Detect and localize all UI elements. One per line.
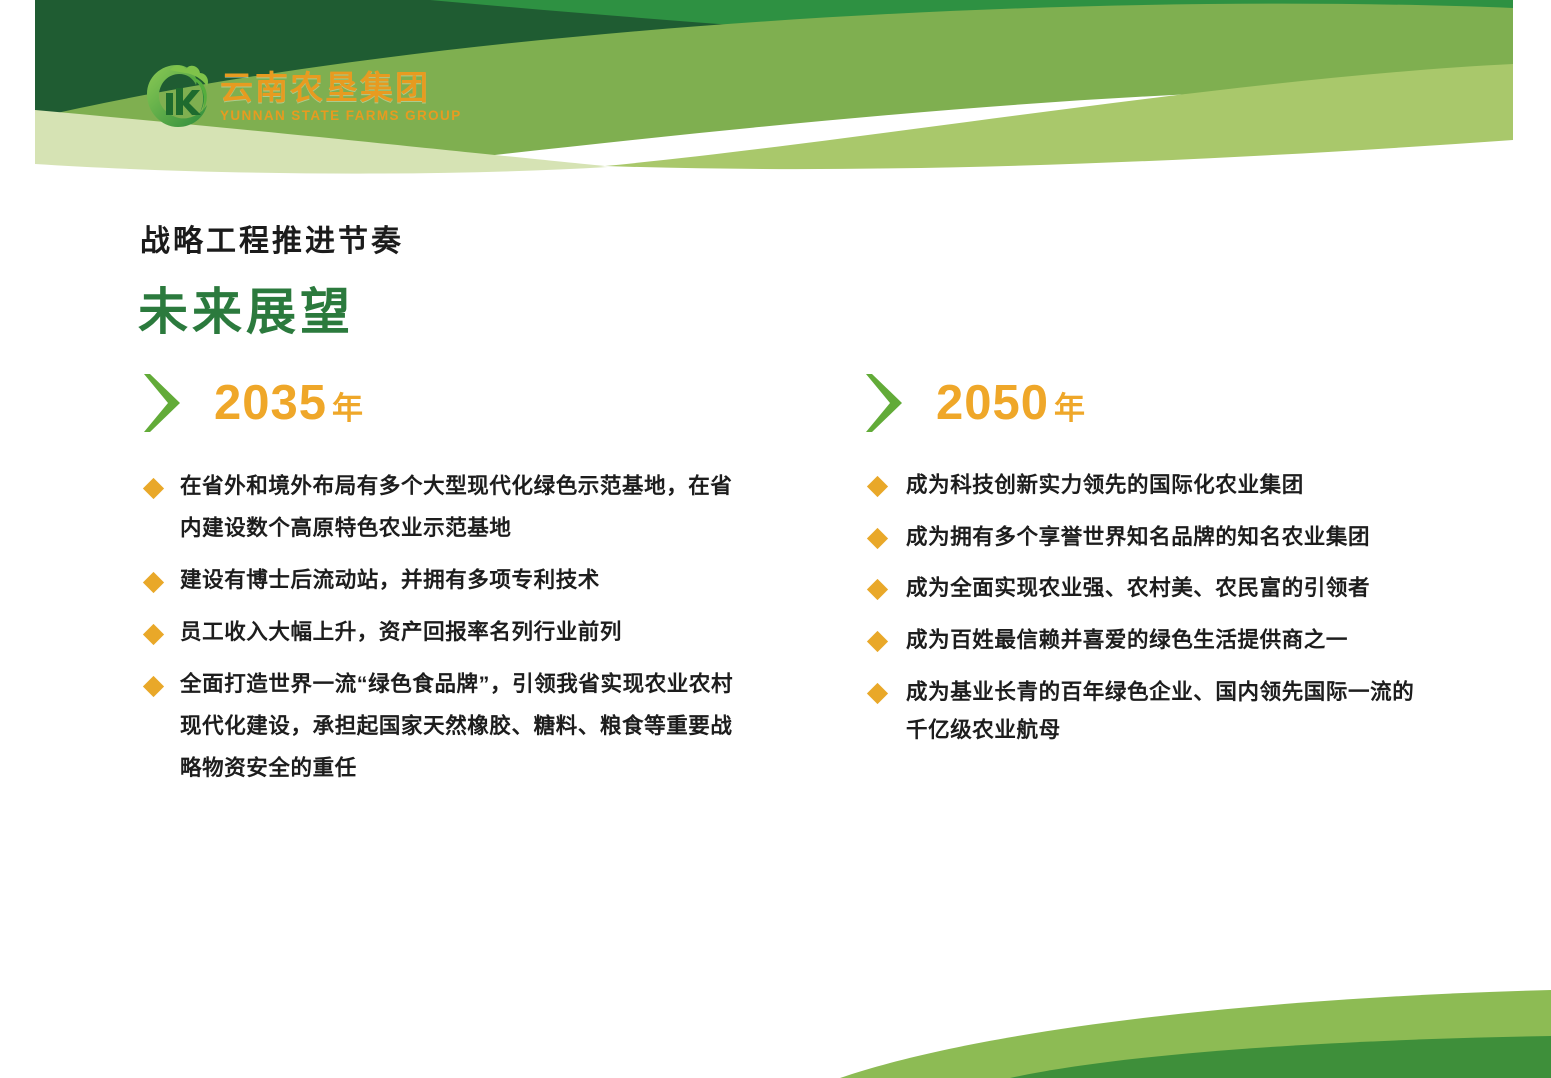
column-2050: 2050年 成为科技创新实力领先的国际化农业集团 成为拥有多个享誉世界知名品牌的…	[862, 368, 1422, 763]
list-item: 员工收入大幅上升，资产回报率名列行业前列	[140, 612, 740, 654]
diamond-bullet-icon	[867, 579, 888, 600]
brand-logo-text: 云南农垦集团 YUNNAN STATE FARMS GROUP	[220, 71, 462, 123]
diamond-bullet-icon	[867, 631, 888, 652]
brand-logo: 云南农垦集团 YUNNAN STATE FARMS GROUP	[140, 56, 462, 138]
bullet-list-2035: 在省外和境外布局有多个大型现代化绿色示范基地，在省内建设数个高原特色农业示范基地…	[140, 466, 740, 789]
banner-shape-light-green	[605, 64, 1513, 169]
list-item: 成为全面实现农业强、农村美、农民富的引领者	[862, 569, 1422, 608]
list-item: 在省外和境外布局有多个大型现代化绿色示范基地，在省内建设数个高原特色农业示范基地	[140, 466, 740, 550]
year-suffix: 年	[332, 391, 363, 426]
chevron-right-icon	[140, 372, 186, 434]
brand-name-cn: 云南农垦集团	[220, 71, 462, 104]
year-number: 2035	[214, 376, 327, 430]
year-suffix: 年	[1054, 391, 1085, 426]
banner-bottom-shape-light-green	[840, 990, 1551, 1078]
list-item: 成为科技创新实力领先的国际化农业集团	[862, 466, 1422, 505]
diamond-bullet-icon	[867, 683, 888, 704]
list-item: 成为拥有多个享誉世界知名品牌的知名农业集团	[862, 518, 1422, 557]
diamond-bullet-icon	[143, 572, 164, 593]
slide-canvas: 云南农垦集团 YUNNAN STATE FARMS GROUP 战略工程推进节奏…	[0, 0, 1551, 1078]
banner-bottom-shape-green	[1010, 1036, 1551, 1078]
list-item-text: 成为科技创新实力领先的国际化农业集团	[906, 473, 1304, 497]
diamond-bullet-icon	[867, 528, 888, 549]
yunnan-state-farms-leaf-logo-icon	[140, 60, 214, 134]
chevron-right-icon	[862, 372, 908, 434]
banner-bottom-waves-svg	[0, 918, 1551, 1078]
list-item-text: 在省外和境外布局有多个大型现代化绿色示范基地，在省内建设数个高原特色农业示范基地	[180, 474, 733, 540]
brand-name-en: YUNNAN STATE FARMS GROUP	[220, 109, 462, 123]
year-label-2050: 2050年	[936, 379, 1085, 428]
list-item: 成为基业长青的百年绿色企业、国内领先国际一流的千亿级农业航母	[862, 673, 1422, 750]
list-item-text: 全面打造世界一流“绿色食品牌”，引领我省实现农业农村现代化建设，承担起国家天然橡…	[180, 672, 733, 780]
bullet-list-2050: 成为科技创新实力领先的国际化农业集团 成为拥有多个享誉世界知名品牌的知名农业集团…	[862, 466, 1422, 750]
diamond-bullet-icon	[143, 478, 164, 499]
banner-shape-green	[430, 0, 1513, 70]
list-item-text: 建设有博士后流动站，并拥有多项专利技术	[180, 568, 600, 592]
list-item: 全面打造世界一流“绿色食品牌”，引领我省实现农业农村现代化建设，承担起国家天然橡…	[140, 664, 740, 790]
list-item-text: 成为基业长青的百年绿色企业、国内领先国际一流的千亿级农业航母	[906, 680, 1414, 743]
list-item: 建设有博士后流动站，并拥有多项专利技术	[140, 560, 740, 602]
bottom-decorative-banner	[0, 918, 1551, 1078]
diamond-bullet-icon	[867, 476, 888, 497]
column-2035: 2035年 在省外和境外布局有多个大型现代化绿色示范基地，在省内建设数个高原特色…	[140, 368, 740, 799]
year-heading-2035: 2035年	[140, 368, 740, 438]
year-label-2035: 2035年	[214, 379, 363, 428]
list-item-text: 成为百姓最信赖并喜爱的绿色生活提供商之一	[906, 628, 1348, 652]
diamond-bullet-icon	[143, 624, 164, 645]
list-item-text: 成为全面实现农业强、农村美、农民富的引领者	[906, 576, 1370, 600]
year-heading-2050: 2050年	[862, 368, 1422, 438]
page-title: 未来展望	[138, 272, 354, 344]
section-kicker: 战略工程推进节奏	[140, 216, 404, 260]
list-item-text: 成为拥有多个享誉世界知名品牌的知名农业集团	[906, 525, 1370, 549]
year-number: 2050	[936, 376, 1049, 430]
diamond-bullet-icon	[143, 676, 164, 697]
list-item: 成为百姓最信赖并喜爱的绿色生活提供商之一	[862, 621, 1422, 660]
list-item-text: 员工收入大幅上升，资产回报率名列行业前列	[180, 620, 622, 644]
